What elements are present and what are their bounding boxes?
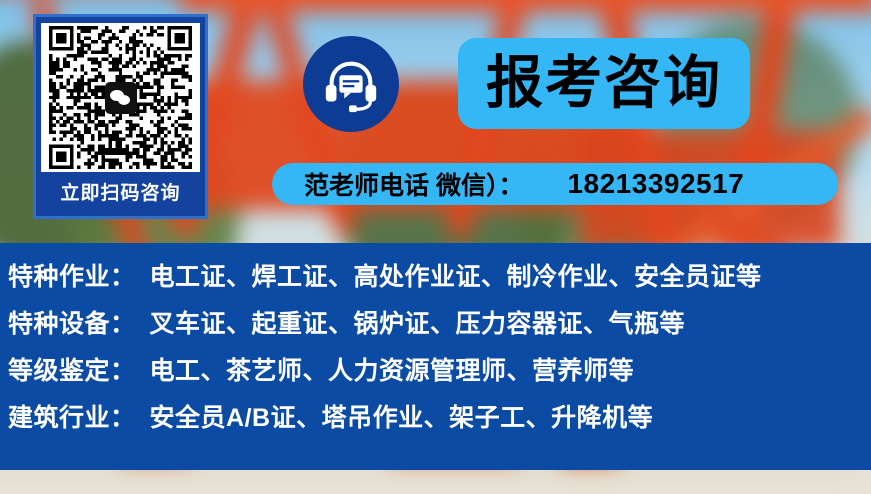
service-row: 等级鉴定： 电工、茶艺师、人力资源管理师、营养师等	[8, 351, 871, 398]
service-items: 电工、茶艺师、人力资源管理师、营养师等	[150, 351, 635, 387]
promo-poster: 立即扫码咨询 报考咨询 范老师电话 微信）： 18213392517 特种作业：…	[0, 0, 871, 494]
qr-code-card[interactable]: 立即扫码咨询	[33, 14, 208, 219]
service-row: 特种作业： 电工证、焊工证、高处作业证、制冷作业、安全员证等	[8, 257, 871, 304]
service-category: 建筑行业：	[8, 398, 136, 434]
qr-code-image[interactable]	[41, 23, 200, 172]
service-items: 电工证、焊工证、高处作业证、制冷作业、安全员证等	[150, 257, 762, 293]
wechat-icon	[105, 82, 137, 114]
services-panel: 特种作业： 电工证、焊工证、高处作业证、制冷作业、安全员证等 特种设备： 叉车证…	[0, 243, 871, 470]
qr-caption: 立即扫码咨询	[42, 172, 199, 216]
contact-label: 范老师电话 微信）：	[272, 166, 523, 202]
bottom-photo-strip	[0, 470, 871, 494]
service-items: 安全员A/B证、塔吊作业、架子工、升降机等	[150, 398, 654, 434]
contact-phone-banner[interactable]: 范老师电话 微信）： 18213392517	[272, 163, 838, 205]
service-items: 叉车证、起重证、锅炉证、压力容器证、气瓶等	[150, 304, 686, 340]
service-row: 建筑行业： 安全员A/B证、塔吊作业、架子工、升降机等	[8, 398, 871, 445]
service-category: 特种设备：	[8, 304, 136, 340]
service-row: 特种设备： 叉车证、起重证、锅炉证、压力容器证、气瓶等	[8, 304, 871, 351]
headset-chat-icon	[303, 36, 399, 132]
consultation-badge-label: 报考咨询	[486, 55, 722, 112]
service-category: 特种作业：	[8, 257, 136, 293]
service-category: 等级鉴定：	[8, 351, 136, 387]
contact-phone-number[interactable]: 18213392517	[567, 168, 744, 200]
consultation-badge[interactable]: 报考咨询	[458, 38, 750, 129]
